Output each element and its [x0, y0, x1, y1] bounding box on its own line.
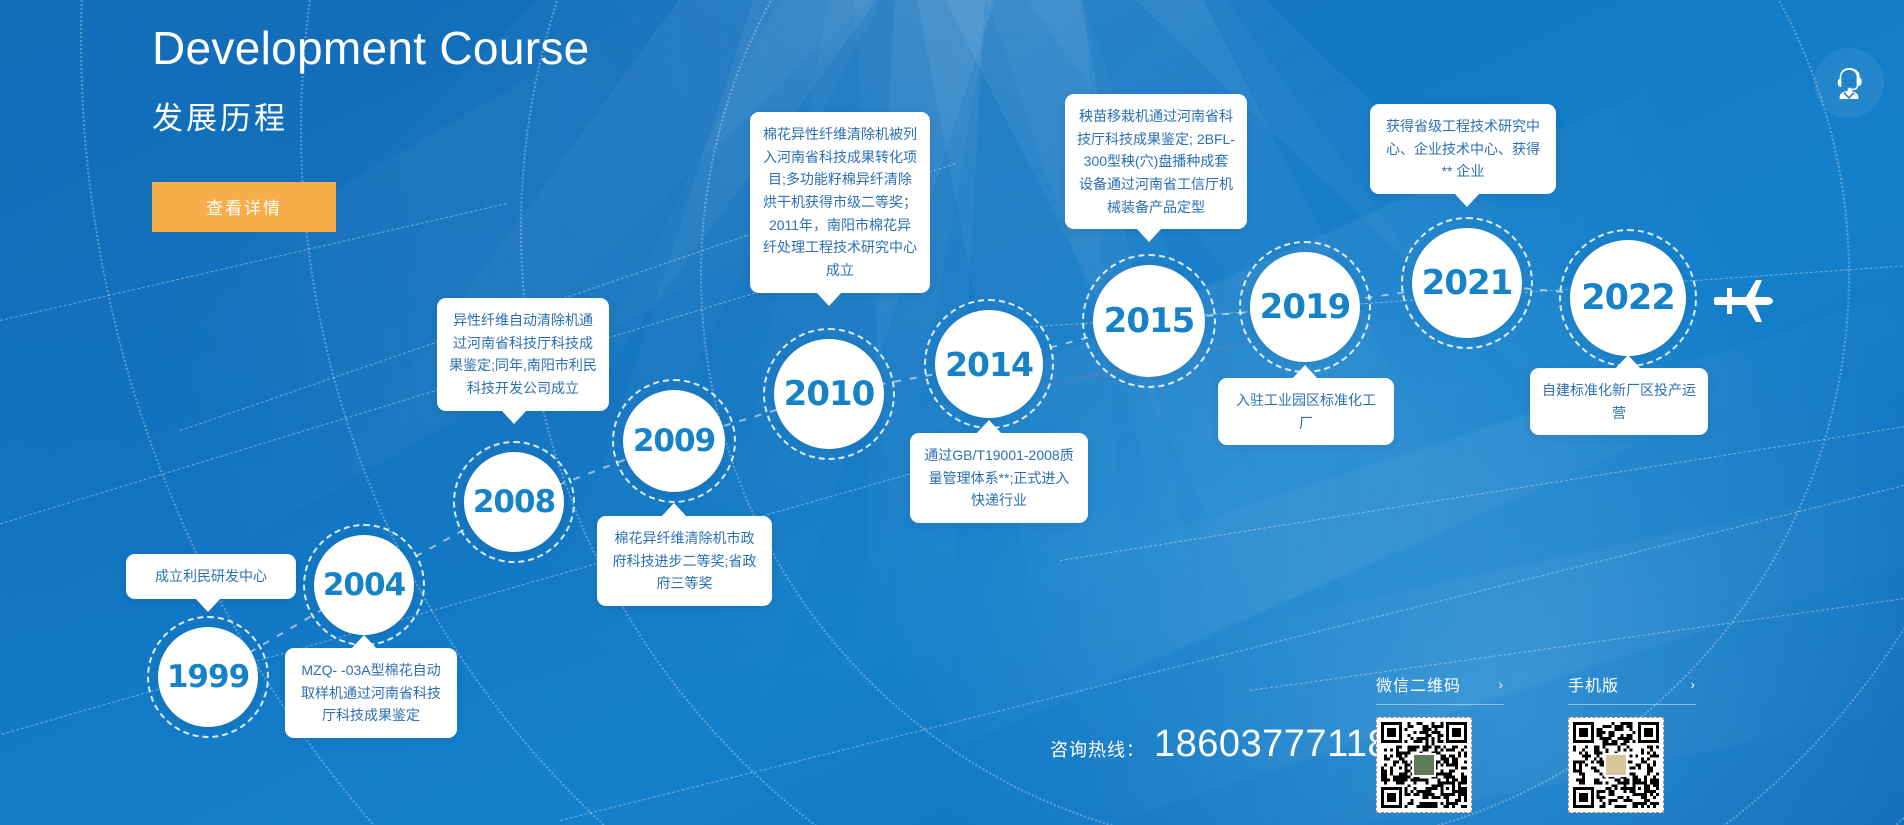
callout-text: 入驻工业园区标准化工厂	[1236, 392, 1376, 431]
callout-tip-icon	[195, 598, 221, 612]
hotline-number: 18603777118	[1154, 723, 1389, 766]
qr-block-wechat: 微信二维码 ›	[1376, 672, 1504, 813]
callout-tip-icon	[661, 503, 687, 517]
callout-tip-icon	[1136, 228, 1162, 242]
qr-code-wechat[interactable]	[1376, 717, 1472, 813]
callout-text: 秧苗移栽机通过河南省科技厅科技成果鉴定; 2BFL- 300型秧(穴)盘播种成套…	[1077, 108, 1235, 215]
qr-label-wechat: 微信二维码	[1376, 672, 1461, 696]
year-label: 2015	[1104, 301, 1195, 341]
year-circle-2008[interactable]: 2008	[464, 452, 564, 552]
year-label: 2014	[945, 345, 1033, 384]
headset-agent-icon	[1829, 63, 1869, 103]
callout-text: 棉花异性纤维清除机被列入河南省科技成果转化项目;多功能籽棉异纤清除烘干机获得市级…	[763, 126, 917, 278]
callout-tip-icon	[1292, 365, 1318, 379]
customer-service-icon[interactable]	[1814, 48, 1884, 118]
year-label: 2021	[1422, 263, 1513, 303]
timeline-callout-2014[interactable]: 通过GB/T19001-2008质量管理体系**;正式进入快递行业	[910, 433, 1088, 523]
timeline-callout-1999[interactable]: 成立利民研发中心	[126, 554, 296, 599]
timeline-callout-2009[interactable]: 棉花异纤维清除机市政府科技进步二等奖;省政府三等奖	[597, 516, 772, 606]
qr-header-wechat[interactable]: 微信二维码 ›	[1376, 672, 1504, 705]
timeline-callout-2004[interactable]: MZQ- -03A型棉花自动取样机通过河南省科技厅科技成果鉴定	[285, 648, 457, 738]
chevron-right-icon: ›	[1690, 676, 1696, 692]
callout-text: 通过GB/T19001-2008质量管理体系**;正式进入快递行业	[924, 447, 1073, 508]
callout-text: MZQ- -03A型棉花自动取样机通过河南省科技厅科技成果鉴定	[301, 662, 441, 723]
page-title-cn: 发展历程	[152, 93, 590, 138]
year-label: 1999	[167, 659, 249, 695]
year-label: 2004	[323, 567, 405, 603]
year-circle-2014[interactable]: 2014	[935, 310, 1043, 418]
qr-label-mobile: 手机版	[1568, 672, 1619, 696]
callout-text: 成立利民研发中心	[155, 568, 267, 584]
qr-logo-mobile	[1604, 753, 1628, 777]
qr-code-mobile[interactable]	[1568, 717, 1664, 813]
view-detail-button[interactable]: 查看详情	[152, 182, 336, 232]
timeline-callout-2022[interactable]: 自建标准化新厂区投产运营	[1530, 368, 1708, 435]
callout-text: 棉花异纤维清除机市政府科技进步二等奖;省政府三等奖	[613, 530, 757, 591]
callout-tip-icon	[1454, 193, 1480, 207]
page-title-en: Development Course	[152, 22, 590, 75]
timeline-callout-2021[interactable]: 获得省级工程技术研究中心、企业技术中心、获得** 企业	[1370, 104, 1556, 194]
airplane-icon	[1714, 278, 1776, 329]
timeline-callout-2010[interactable]: 棉花异性纤维清除机被列入河南省科技成果转化项目;多功能籽棉异纤清除烘干机获得市级…	[750, 112, 930, 293]
qr-header-mobile[interactable]: 手机版 ›	[1568, 672, 1696, 705]
year-label: 2008	[473, 484, 555, 520]
year-circle-2004[interactable]: 2004	[314, 535, 414, 635]
year-label: 2010	[784, 374, 875, 414]
callout-text: 异性纤维自动清除机通过河南省科技厅科技成果鉴定;同年,南阳市利民科技开发公司成立	[449, 312, 597, 396]
callout-text: 获得省级工程技术研究中心、企业技术中心、获得** 企业	[1386, 118, 1540, 179]
qr-logo-wechat	[1412, 753, 1436, 777]
year-label: 2009	[633, 423, 715, 459]
year-circle-2019[interactable]: 2019	[1250, 252, 1360, 362]
development-course-page: Development Course 发展历程 查看详情 1999成立利民研发中…	[0, 0, 1904, 825]
year-label: 2022	[1581, 278, 1674, 318]
callout-tip-icon	[816, 292, 842, 306]
timeline-callout-2019[interactable]: 入驻工业园区标准化工厂	[1218, 378, 1394, 445]
callout-tip-icon	[501, 410, 527, 424]
timeline-callout-2015[interactable]: 秧苗移栽机通过河南省科技厅科技成果鉴定; 2BFL- 300型秧(穴)盘播种成套…	[1065, 94, 1247, 229]
page-header: Development Course 发展历程 查看详情	[152, 22, 590, 232]
callout-tip-icon	[976, 420, 1002, 434]
callout-tip-icon	[1615, 355, 1641, 369]
year-circle-2015[interactable]: 2015	[1093, 265, 1205, 377]
qr-block-mobile: 手机版 ›	[1568, 672, 1696, 813]
hotline: 咨询热线： 18603777118	[1050, 723, 1389, 766]
hotline-label: 咨询热线：	[1050, 736, 1145, 762]
chevron-right-icon: ›	[1498, 676, 1504, 692]
year-circle-2009[interactable]: 2009	[623, 390, 725, 492]
callout-tip-icon	[351, 635, 377, 649]
callout-text: 自建标准化新厂区投产运营	[1542, 382, 1696, 421]
year-circle-2010[interactable]: 2010	[774, 339, 884, 449]
timeline-callout-2008[interactable]: 异性纤维自动清除机通过河南省科技厅科技成果鉴定;同年,南阳市利民科技开发公司成立	[437, 298, 609, 411]
year-label: 2019	[1260, 287, 1351, 327]
year-circle-2021[interactable]: 2021	[1412, 228, 1522, 338]
year-circle-1999[interactable]: 1999	[158, 627, 258, 727]
year-circle-2022[interactable]: 2022	[1570, 240, 1686, 356]
